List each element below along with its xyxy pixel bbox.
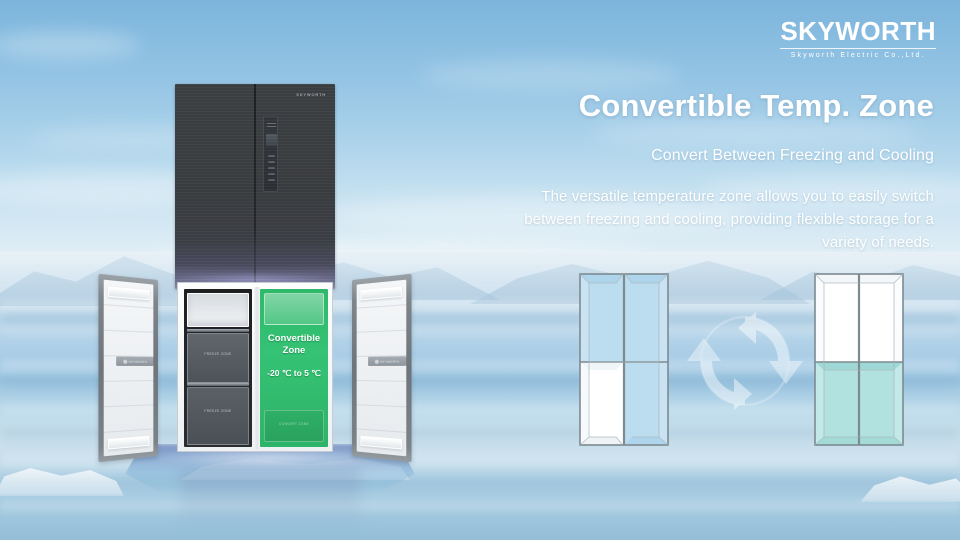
convertible-zone-temperature: -20 ℃ to 5 ℃: [260, 368, 328, 379]
logo-divider: [780, 48, 936, 49]
convertible-zone-bin-label: CONVERT ZONE: [265, 422, 323, 426]
convertible-zone-title-line1: Convertible: [260, 333, 328, 345]
description-text: The versatile temperature zone allows yo…: [482, 185, 934, 255]
circular-swap-arrows-icon: [682, 298, 808, 424]
door-inner-panel: SKYWORTH: [357, 280, 407, 457]
drawer-label: FRESH ZONE: [188, 306, 248, 311]
convertible-zone-callout: Convertible Zone -20 ℃ to 5 ℃: [260, 333, 328, 379]
convertible-zone-shelf: [264, 293, 324, 325]
convertible-zone-title-line2: Zone: [260, 345, 328, 357]
cloud: [420, 60, 680, 90]
door-shelf-rail: [108, 286, 150, 300]
drawer-bottom[interactable]: FREEZE ZONE: [187, 387, 249, 445]
control-panel-button[interactable]: [268, 161, 275, 163]
diagram-all-freezing-mode: [578, 272, 670, 452]
control-panel-button[interactable]: [268, 173, 275, 175]
door-badge-label: SKYWORTH: [380, 359, 399, 363]
control-panel-button[interactable]: [268, 155, 275, 157]
refrigerator-reflection: [180, 468, 360, 528]
open-door-right[interactable]: SKYWORTH: [352, 274, 412, 462]
promo-banner: SKYWORTH Skyworth Electric Co.,Ltd. Conv…: [0, 0, 960, 540]
marketing-copy-block: Convertible Temp. Zone Convert Between F…: [482, 88, 934, 254]
door-shelf-rail: [360, 286, 402, 300]
logo-wordmark: SKYWORTH: [780, 18, 936, 44]
page-title: Convertible Temp. Zone: [482, 88, 934, 125]
door-badge-icon: [123, 359, 127, 363]
ice-band: [0, 500, 960, 512]
product-brand-mark: SKYWORTH: [296, 92, 326, 97]
refrigerator-interior: FRESH ZONE FREEZE ZONE FREEZE ZONE C: [177, 282, 333, 452]
open-door-left[interactable]: SKYWORTH: [98, 274, 158, 462]
drawer-label: FREEZE ZONE: [188, 409, 248, 414]
door-badge: SKYWORTH: [116, 356, 153, 366]
convertible-zone-bin: CONVERT ZONE: [264, 410, 324, 442]
cloud: [0, 32, 140, 58]
page-subtitle: Convert Between Freezing and Cooling: [482, 147, 934, 165]
door-badge-label: SKYWORTH: [129, 359, 147, 363]
drawer-label: FREEZE ZONE: [188, 352, 248, 357]
door-badge-icon: [374, 359, 378, 363]
convertible-zone-compartment: Convertible Zone -20 ℃ to 5 ℃ CONVERT ZO…: [260, 289, 328, 447]
refrigerator-upper-doors: SKYWORTH: [175, 84, 335, 289]
door-inner-panel: SKYWORTH: [104, 280, 154, 457]
door-shelf-rail: [360, 436, 402, 450]
refrigerator-product-image: SKYWORTH: [88, 84, 422, 466]
skyworth-logo: SKYWORTH Skyworth Electric Co.,Ltd.: [780, 18, 936, 59]
control-panel[interactable]: [263, 116, 278, 192]
control-panel-button[interactable]: [268, 179, 275, 181]
drawer-top[interactable]: FRESH ZONE: [187, 293, 249, 327]
control-panel-line: [267, 126, 276, 127]
shelf-divider: [187, 329, 249, 332]
door-seam: [254, 84, 256, 289]
control-panel-button[interactable]: [268, 167, 275, 169]
drawer-middle[interactable]: FREEZE ZONE: [187, 333, 249, 383]
shelf-divider: [187, 383, 249, 386]
control-panel-line: [267, 123, 276, 124]
door-shelf-rail: [108, 436, 150, 450]
refrigerator-lower-section: SKYWORTH FRESH ZONE FREEZE ZONE FRE: [88, 282, 422, 454]
door-badge: SKYWORTH: [368, 356, 406, 366]
logo-company-name: Skyworth Electric Co.,Ltd.: [780, 52, 936, 59]
control-panel-display: [266, 134, 277, 146]
freezer-compartment: FRESH ZONE FREEZE ZONE FREEZE ZONE: [184, 289, 252, 447]
diagram-split-cooling-mode: [813, 272, 905, 452]
